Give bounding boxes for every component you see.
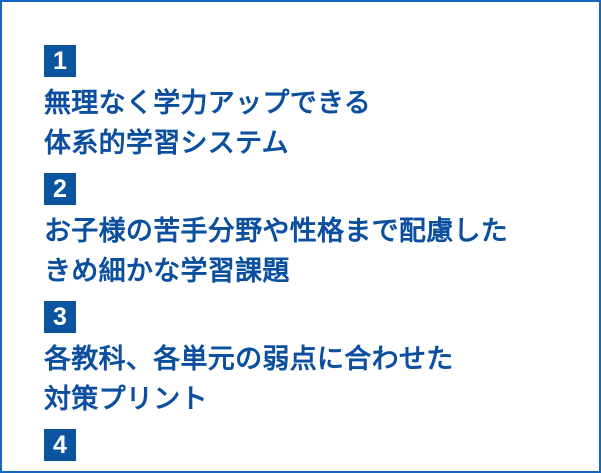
numbered-feature-list: 1 無理なく学力アップできる 体系的学習システム 2 お子様の苦手分野や性格まで… [44,43,574,473]
list-item-line: 各教科、各単元の弱点に合わせた [44,339,574,379]
list-item-text: 第一志望校合格につながる教育相談会や 教育イベント [44,467,574,473]
list-item-text: 無理なく学力アップできる 体系的学習システム [44,83,574,163]
list-item-line: 体系的学習システム [44,123,574,163]
list-item-line: 対策プリント [44,379,574,419]
list-item-text: 各教科、各単元の弱点に合わせた 対策プリント [44,339,574,419]
list-item: 3 各教科、各単元の弱点に合わせた 対策プリント [44,299,574,419]
list-item-line: 第一志望校合格につながる教育相談会や [44,467,574,473]
list-item-number-badge: 1 [44,45,76,77]
list-item-line: お子様の苦手分野や性格まで配慮した [44,211,574,251]
list-item-text: お子様の苦手分野や性格まで配慮した きめ細かな学習課題 [44,211,574,291]
list-item-line: 無理なく学力アップできる [44,83,574,123]
list-item-line: きめ細かな学習課題 [44,251,574,291]
list-item-number-badge: 3 [44,301,76,333]
list-item: 2 お子様の苦手分野や性格まで配慮した きめ細かな学習課題 [44,171,574,291]
feature-list-panel: 1 無理なく学力アップできる 体系的学習システム 2 お子様の苦手分野や性格まで… [0,0,601,473]
list-item: 1 無理なく学力アップできる 体系的学習システム [44,43,574,163]
list-item-number-badge: 4 [44,429,76,461]
list-item-number-badge: 2 [44,173,76,205]
list-item: 4 第一志望校合格につながる教育相談会や 教育イベント [44,427,574,473]
